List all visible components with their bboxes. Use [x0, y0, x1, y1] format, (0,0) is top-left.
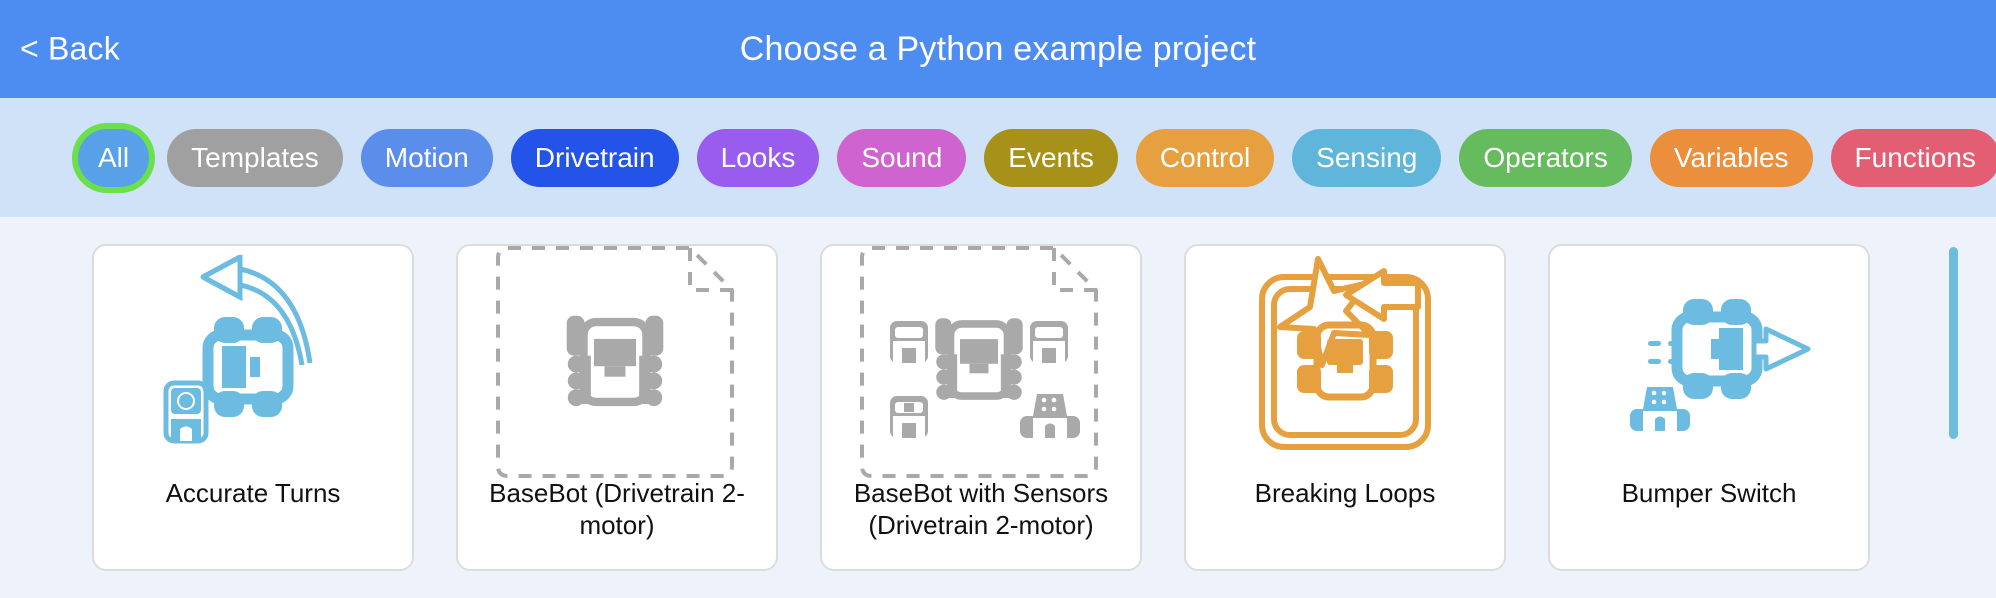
- project-card-label: BaseBot with Sensors (Drivetrain 2-motor…: [822, 478, 1140, 541]
- category-chip-label: Operators: [1483, 142, 1608, 174]
- project-card[interactable]: Accurate Turns: [92, 244, 414, 571]
- category-chip-label: Events: [1008, 142, 1094, 174]
- category-chip-label: All: [98, 142, 129, 174]
- category-chip-looks[interactable]: Looks: [697, 129, 820, 187]
- category-chip-motion[interactable]: Motion: [361, 129, 493, 187]
- back-button[interactable]: < Back: [20, 31, 120, 68]
- category-chip-label: Control: [1160, 142, 1250, 174]
- category-chip-control[interactable]: Control: [1136, 129, 1274, 187]
- category-chip-label: Sensing: [1316, 142, 1417, 174]
- project-card[interactable]: Breaking Loops: [1184, 244, 1506, 571]
- category-chip-drivetrain[interactable]: Drivetrain: [511, 129, 679, 187]
- category-chip-functions[interactable]: Functions: [1831, 129, 1996, 187]
- category-chip-operators[interactable]: Operators: [1459, 129, 1632, 187]
- category-chip-events[interactable]: Events: [984, 129, 1118, 187]
- category-chip-templates[interactable]: Templates: [167, 129, 343, 187]
- project-card-label: Breaking Loops: [1186, 478, 1504, 510]
- category-chip-label: Motion: [385, 142, 469, 174]
- project-grid-container: Accurate TurnsBaseBot (Drivetrain 2-moto…: [0, 217, 1996, 598]
- project-grid: Accurate TurnsBaseBot (Drivetrain 2-moto…: [0, 217, 1996, 571]
- category-chip-variables[interactable]: Variables: [1650, 129, 1813, 187]
- project-card[interactable]: Bumper Switch: [1548, 244, 1870, 571]
- category-chip-label: Drivetrain: [535, 142, 655, 174]
- project-card[interactable]: BaseBot with Sensors (Drivetrain 2-motor…: [820, 244, 1142, 571]
- category-chip-label: Functions: [1855, 142, 1976, 174]
- category-chip-label: Sound: [861, 142, 942, 174]
- grid-scrollbar-thumb[interactable]: [1949, 247, 1958, 439]
- project-card-label: Accurate Turns: [94, 478, 412, 510]
- category-chip-label: Looks: [721, 142, 796, 174]
- basebot-with-sensors-icon: [822, 246, 1140, 478]
- category-chip-all[interactable]: All: [78, 129, 149, 187]
- project-card[interactable]: BaseBot (Drivetrain 2-motor): [456, 244, 778, 571]
- project-card-label: Bumper Switch: [1550, 478, 1868, 510]
- project-card-label: BaseBot (Drivetrain 2-motor): [458, 478, 776, 541]
- category-chip-label: Variables: [1674, 142, 1789, 174]
- page-title: Choose a Python example project: [0, 30, 1996, 69]
- category-chip-label: Templates: [191, 142, 319, 174]
- grid-scrollbar[interactable]: [1949, 247, 1958, 567]
- category-chip-sensing[interactable]: Sensing: [1292, 129, 1441, 187]
- robot-bumper-arrow-icon: [1550, 246, 1868, 478]
- loop-break-star-icon: [1186, 246, 1504, 478]
- basebot-dashed-template-icon: [458, 246, 776, 478]
- category-filter-bar: AllTemplatesMotionDrivetrainLooksSoundEv…: [0, 98, 1996, 217]
- robot-turn-arrow-icon: [94, 246, 412, 478]
- category-chip-sound[interactable]: Sound: [837, 129, 966, 187]
- app-header: < Back Choose a Python example project: [0, 0, 1996, 98]
